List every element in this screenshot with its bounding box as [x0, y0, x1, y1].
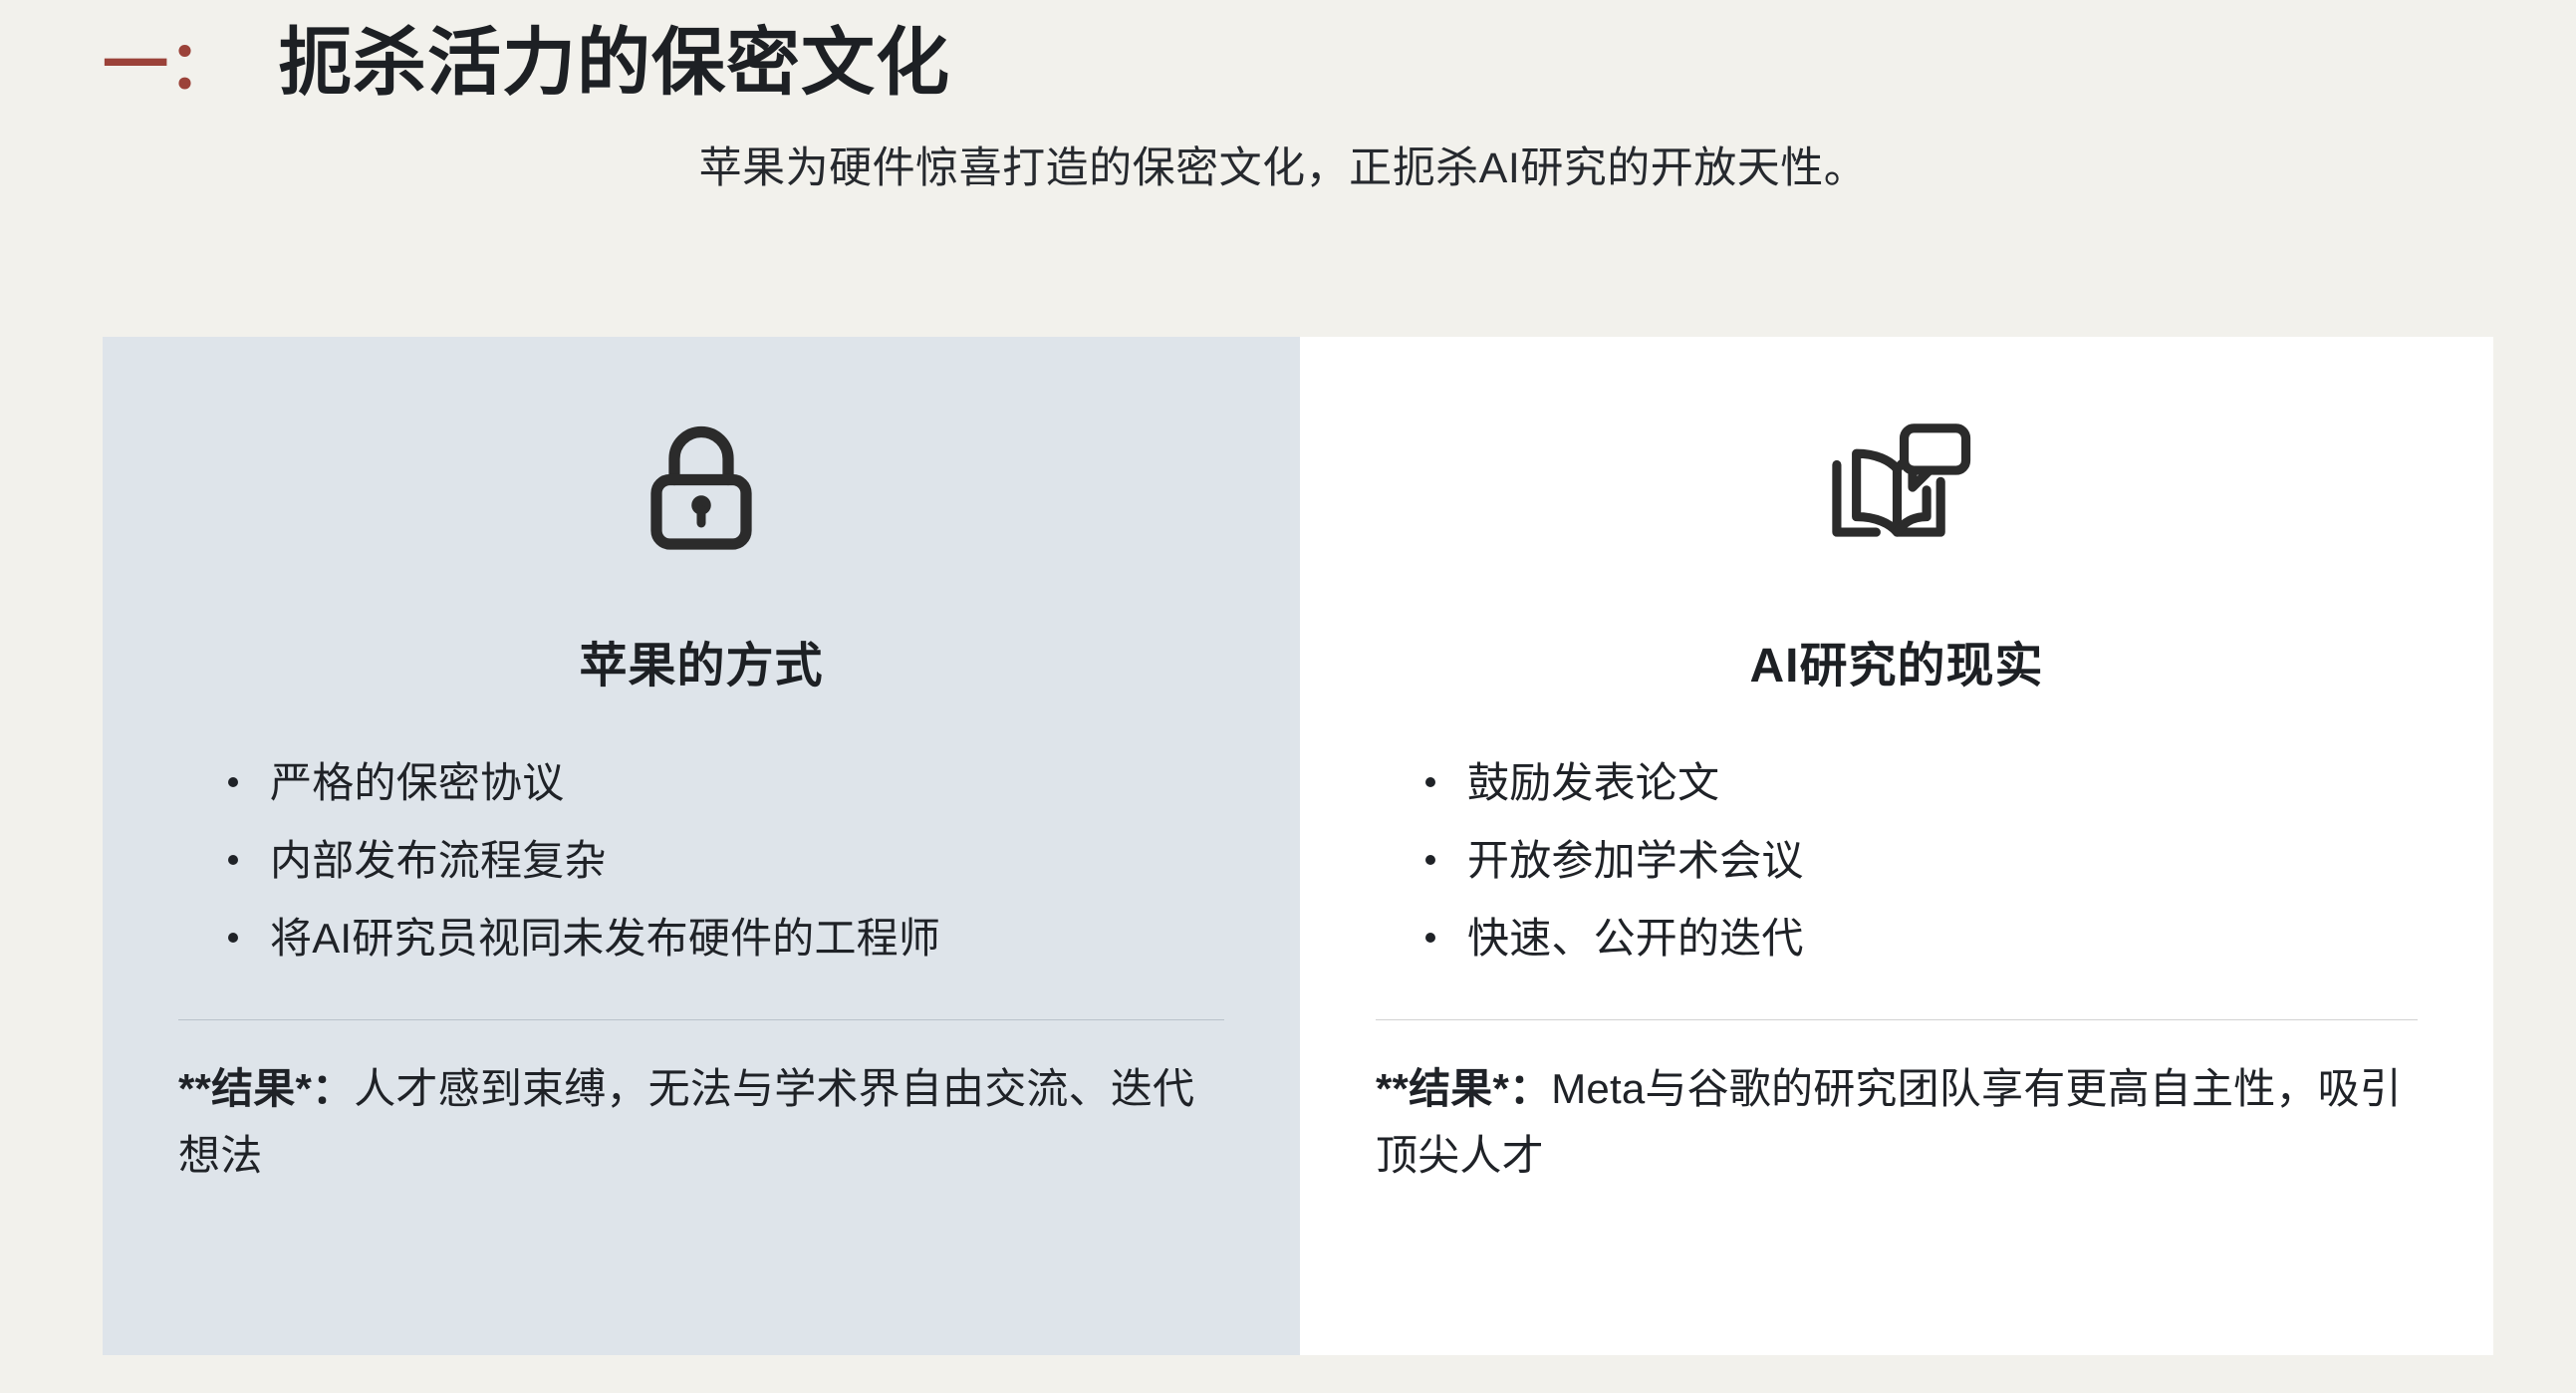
page-subtitle: 苹果为硬件惊喜打造的保密文化，正扼杀AI研究的开放天性。	[0, 134, 2576, 195]
card-divider	[178, 1019, 1224, 1020]
card-result: **结果*：人才感到束缚，无法与学术界自由交流、迭代想法	[178, 1056, 1228, 1189]
bullet-dot-icon	[228, 933, 238, 943]
lock-icon	[174, 413, 1228, 562]
comparison-cards: 苹果的方式 严格的保密协议 内部发布流程复杂 将AI研究员视同未发布硬件的工程师…	[103, 337, 2493, 1355]
list-item: 内部发布流程复杂	[226, 829, 1228, 893]
title-row: 一： 扼杀活力的保密文化	[0, 0, 2576, 100]
card-heading: AI研究的现实	[1372, 626, 2422, 696]
result-label: **结果*：	[1376, 1065, 1551, 1112]
list-item: 将AI研究员视同未发布硬件的工程师	[226, 907, 1228, 971]
list-item: 开放参加学术会议	[1423, 829, 2422, 893]
list-item-label: 内部发布流程复杂	[270, 837, 607, 884]
list-item-label: 快速、公开的迭代	[1467, 915, 1804, 962]
bullet-dot-icon	[1425, 855, 1435, 865]
bullet-dot-icon	[1425, 777, 1435, 787]
list-item-label: 将AI研究员视同未发布硬件的工程师	[270, 915, 940, 962]
card-ai-research-reality: AI研究的现实 鼓励发表论文 开放参加学术会议 快速、公开的迭代 **结果*：M…	[1300, 337, 2493, 1355]
list-item-label: 严格的保密协议	[270, 759, 564, 806]
open-book-speech-bubble-icon	[1372, 413, 2422, 562]
card-apple-way: 苹果的方式 严格的保密协议 内部发布流程复杂 将AI研究员视同未发布硬件的工程师…	[103, 337, 1300, 1355]
page-title: 扼杀活力的保密文化	[278, 26, 950, 100]
bullet-dot-icon	[228, 855, 238, 865]
result-label: **结果*：	[178, 1065, 354, 1112]
bullet-list: 严格的保密协议 内部发布流程复杂 将AI研究员视同未发布硬件的工程师	[174, 751, 1228, 983]
list-item-label: 开放参加学术会议	[1467, 837, 1804, 884]
card-divider	[1376, 1019, 2418, 1020]
bullet-dot-icon	[228, 777, 238, 787]
card-heading: 苹果的方式	[174, 626, 1228, 696]
slide-header: 一： 扼杀活力的保密文化 苹果为硬件惊喜打造的保密文化，正扼杀AI研究的开放天性…	[0, 0, 2576, 195]
bullet-dot-icon	[1425, 933, 1435, 943]
bullet-list: 鼓励发表论文 开放参加学术会议 快速、公开的迭代	[1372, 751, 2422, 983]
list-item: 鼓励发表论文	[1423, 751, 2422, 815]
list-item: 快速、公开的迭代	[1423, 907, 2422, 971]
card-result: **结果*：Meta与谷歌的研究团队享有更高自主性，吸引顶尖人才	[1376, 1056, 2422, 1189]
list-item: 严格的保密协议	[226, 751, 1228, 815]
list-item-label: 鼓励发表论文	[1467, 759, 1719, 806]
title-index: 一：	[103, 32, 234, 98]
